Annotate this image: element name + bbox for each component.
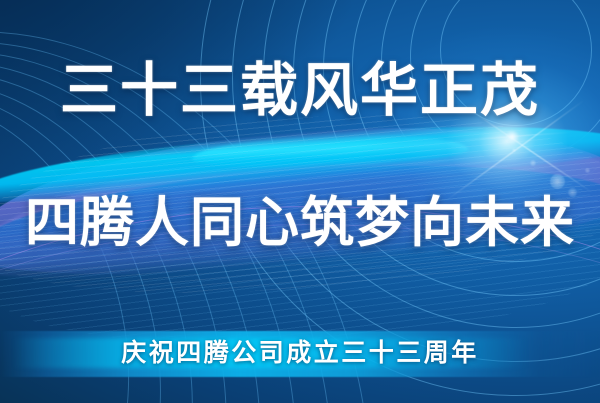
poster-subtitle: 庆祝四腾公司成立三十三周年 [0,340,600,368]
headline-line-1: 三十三载风华正茂 [0,62,600,120]
headline-line-2: 四腾人同心筑梦向未来 [0,196,600,250]
poster-text-group: 三十三载风华正茂 四腾人同心筑梦向未来 庆祝四腾公司成立三十三周年 [0,0,600,403]
anniversary-poster: 三十三载风华正茂 四腾人同心筑梦向未来 庆祝四腾公司成立三十三周年 [0,0,600,403]
